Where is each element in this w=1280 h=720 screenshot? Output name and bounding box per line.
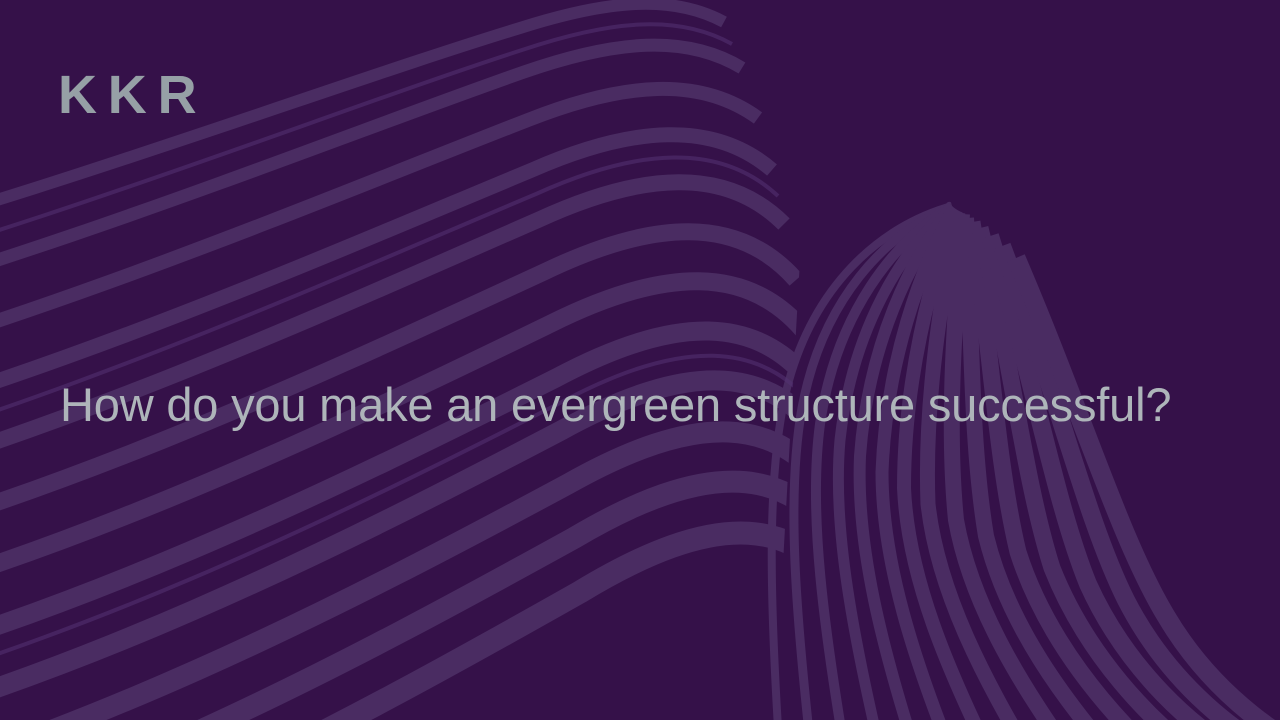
kkr-logo: KKR: [58, 68, 207, 122]
right-curve-family: [772, 206, 1280, 720]
slide-headline: How do you make an evergreen structure s…: [60, 380, 1260, 430]
crest-highlight-curves: [0, 24, 824, 720]
presentation-slide: KKR How do you make an evergreen structu…: [0, 0, 1280, 720]
